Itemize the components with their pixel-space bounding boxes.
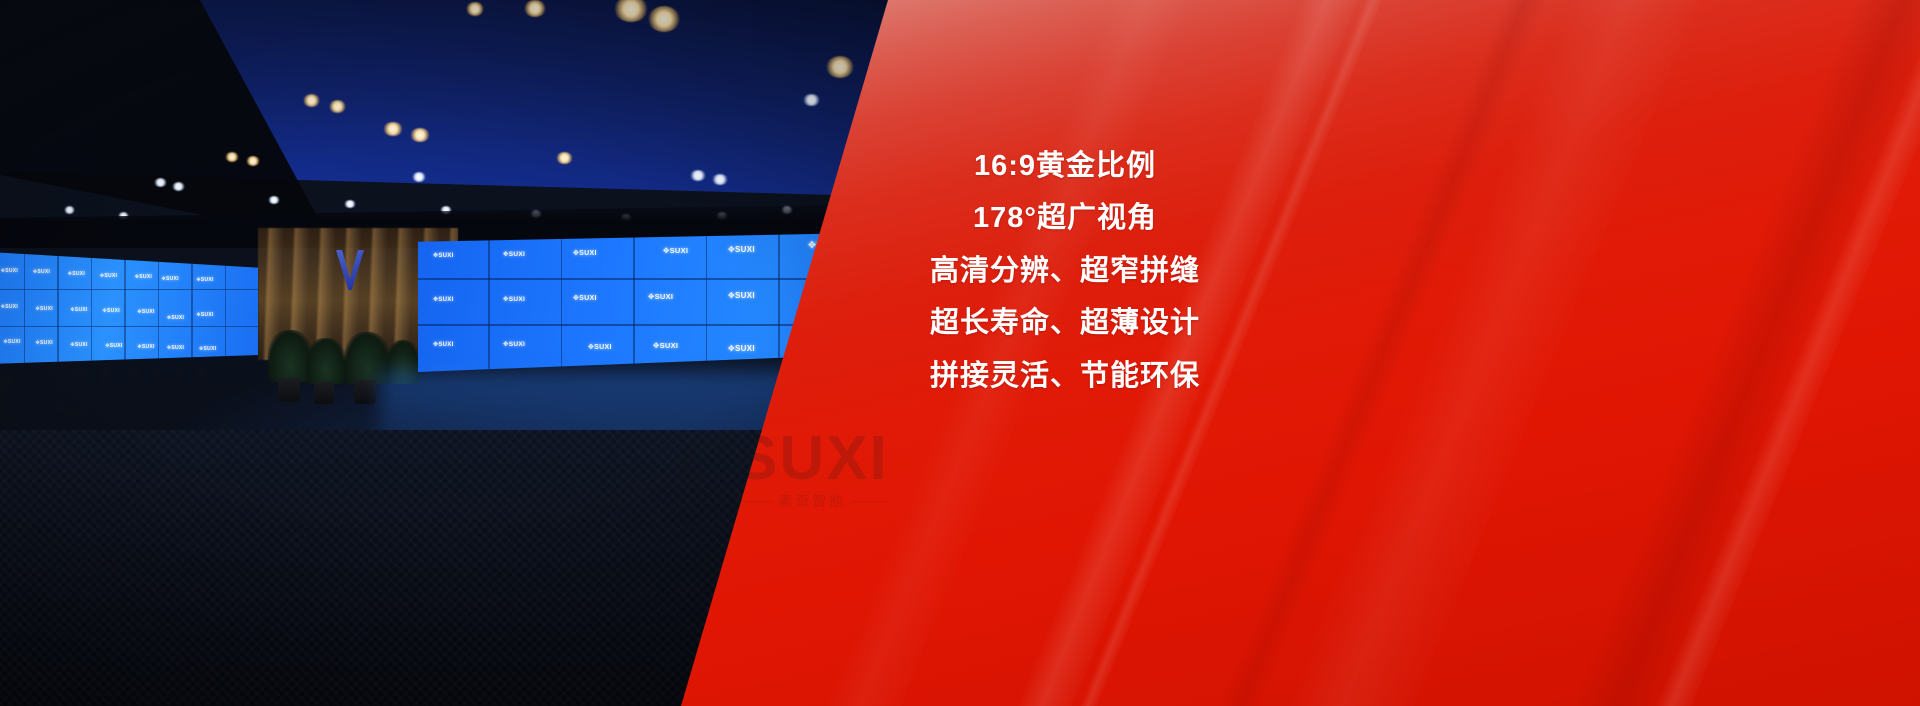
feature-line-3: 高清分辨、超窄拼缝 xyxy=(930,255,1200,287)
feature-copy-list: 16:9黄金比例 178°超广视角 高清分辨、超窄拼缝 超长寿命、超薄设计 拼接… xyxy=(905,150,1225,392)
panel-sheen xyxy=(1200,0,1761,706)
feature-line-2: 178°超广视角 xyxy=(973,202,1157,234)
panel-sheen xyxy=(1564,0,1920,706)
feature-line-1: 16:9黄金比例 xyxy=(974,150,1156,182)
product-feature-banner: ✥SUXI ✥SUXI ✥SUXI ✥SUXI ✥SUXI ✥SUXI ✥SUX… xyxy=(0,0,1920,706)
panel-sheen-dark xyxy=(1484,0,1920,706)
feature-line-5: 拼接灵活、节能环保 xyxy=(930,360,1200,392)
feature-line-4: 超长寿命、超薄设计 xyxy=(930,307,1200,339)
